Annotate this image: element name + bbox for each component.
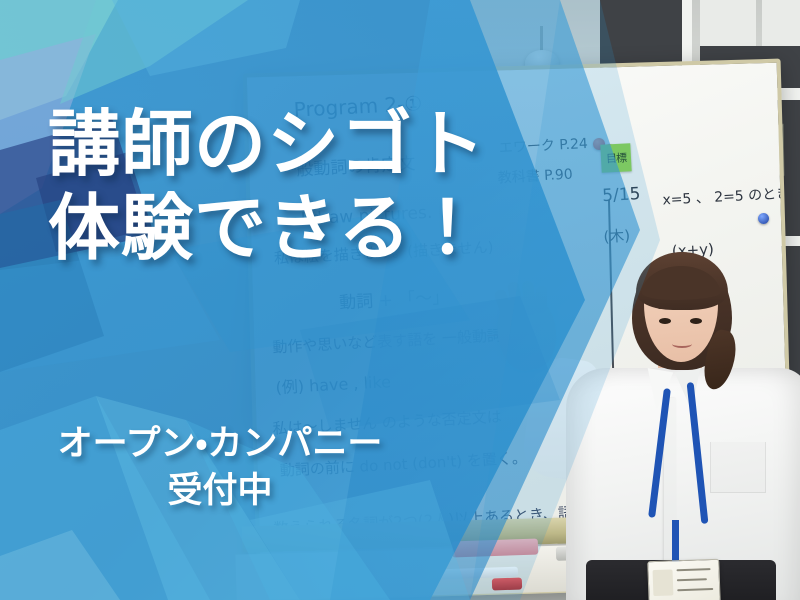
subheadline: オープン・カンパニー 受付中 — [10, 420, 430, 515]
headline-line-2: 体験できる！ — [48, 188, 486, 272]
subheadline-line-2: 受付中 — [10, 467, 430, 514]
banner-copy: 講師のシゴト 体験できる！ オープン・カンパニー 受付中 — [0, 0, 800, 600]
recruitment-banner: 3 Program 2-① 一般動詞の肯定文 I draw pictures. … — [0, 0, 800, 600]
subheadline-line-1: オープン・カンパニー — [58, 424, 383, 463]
headline: 講師のシゴト 体験できる！ — [48, 104, 486, 271]
headline-line-1: 講師のシゴト — [48, 105, 486, 185]
